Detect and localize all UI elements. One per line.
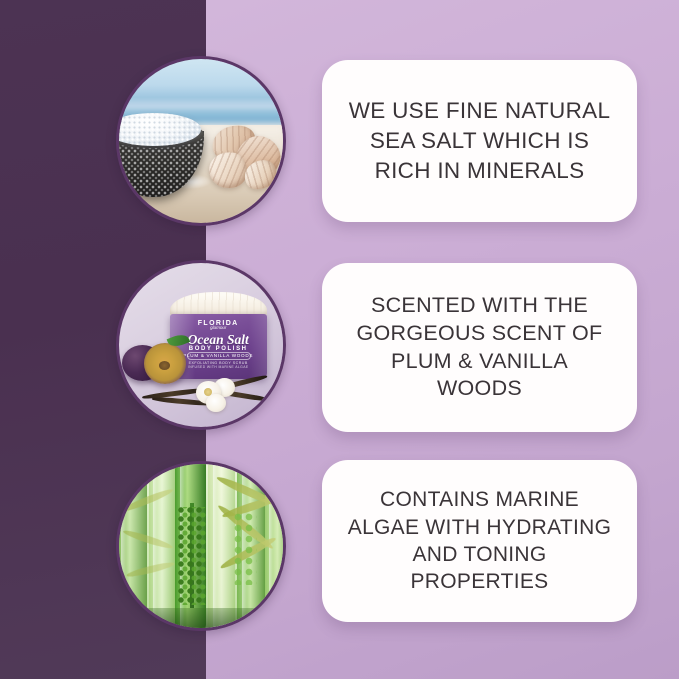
feature-card-sea-salt: WE USE FINE NATURAL SEA SALT WHICH IS RI… xyxy=(322,60,637,222)
feature-line: CONTAINS MARINE xyxy=(380,488,579,511)
feature-text-sea-salt: WE USE FINE NATURAL SEA SALT WHICH IS RI… xyxy=(349,96,611,185)
feature-card-marine-algae: CONTAINS MARINE ALGAE WITH HYDRATING AND… xyxy=(322,460,637,622)
feature-line: AND TONING xyxy=(412,543,546,566)
feature-text-marine-algae: CONTAINS MARINE ALGAE WITH HYDRATING AND… xyxy=(348,486,611,595)
feature-line: SCENTED WITH THE xyxy=(371,293,588,317)
feature-line: PROPERTIES xyxy=(411,570,549,593)
vanilla-flower xyxy=(206,394,226,412)
feature-line: PLUM & VANILLA xyxy=(391,349,568,373)
test-tube xyxy=(116,461,147,631)
algae-bubbles xyxy=(234,513,257,585)
product-jar-photo: FLORIDA glamour Ocean Salt BODY POLISH P… xyxy=(119,263,283,427)
algae-base-shadow xyxy=(119,608,283,628)
feature-line: RICH IN MINERALS xyxy=(375,158,585,183)
feature-line: WOODS xyxy=(437,376,522,400)
feature-line: WE USE FINE NATURAL xyxy=(349,98,611,123)
feature-image-sea-salt xyxy=(116,56,286,226)
feature-line: SEA SALT WHICH IS xyxy=(370,128,589,153)
feature-card-scent: SCENTED WITH THE GORGEOUS SCENT OF PLUM … xyxy=(322,263,637,432)
label-brand-script: glamour xyxy=(170,326,267,331)
feature-image-marine-algae xyxy=(116,461,286,631)
product-benefits-infographic: FLORIDA glamour Ocean Salt BODY POLISH P… xyxy=(0,0,679,679)
sea-salt-bowl-photo xyxy=(119,59,283,223)
algae-frond xyxy=(178,507,206,605)
feature-line: ALGAE WITH HYDRATING xyxy=(348,516,611,539)
feature-line: GORGEOUS SCENT OF xyxy=(356,321,602,345)
feature-image-product-jar: FLORIDA glamour Ocean Salt BODY POLISH P… xyxy=(116,260,286,430)
feature-text-scent: SCENTED WITH THE GORGEOUS SCENT OF PLUM … xyxy=(356,292,602,404)
marine-algae-photo xyxy=(119,464,283,628)
